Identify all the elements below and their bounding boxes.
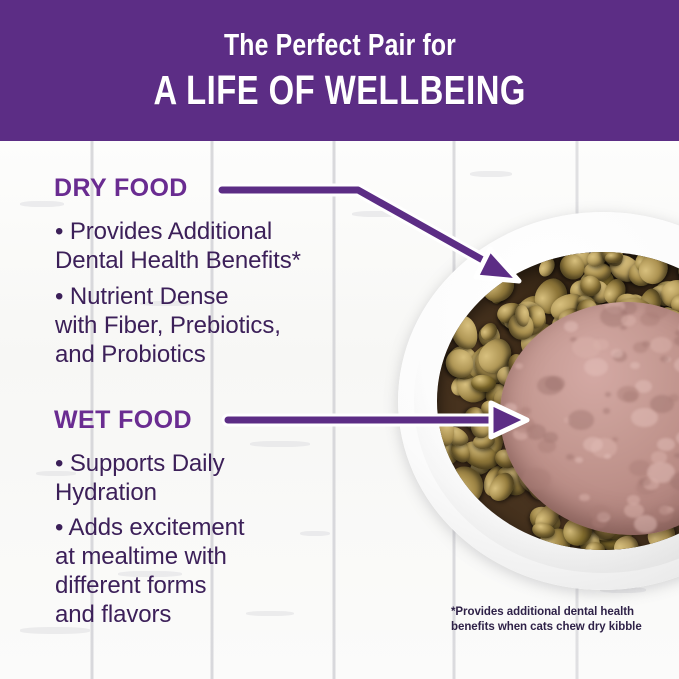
pate-texture [630, 362, 639, 369]
pate-texture [572, 337, 601, 359]
pate-texture [674, 336, 679, 346]
pate-texture [621, 315, 636, 326]
pate-texture [651, 451, 668, 463]
pate-texture [611, 349, 623, 358]
pate-texture [504, 403, 517, 413]
pate-texture [566, 454, 574, 460]
header-line-1: The Perfect Pair for [223, 27, 455, 63]
pate-texture [520, 407, 531, 415]
pate-texture [538, 439, 557, 453]
pate-texture [650, 337, 672, 353]
pate-texture [522, 468, 551, 490]
pate-texture [583, 437, 603, 452]
pate-texture [672, 492, 679, 505]
pate-texture [669, 394, 679, 402]
bullet-dry-1: • Provides Additional Dental Health Bene… [55, 217, 385, 275]
bullet-wet-2: • Adds excitement at mealtime with diffe… [55, 513, 385, 629]
header-banner: The Perfect Pair for A LIFE OF WELLBEING [0, 0, 679, 141]
pate-texture [604, 454, 611, 459]
pate-texture [545, 376, 566, 392]
pate-texture [670, 472, 679, 491]
pate-texture [603, 408, 610, 413]
pate-texture [634, 515, 658, 533]
pate-texture [590, 505, 611, 521]
pate-texture [660, 356, 669, 362]
pate-texture [513, 417, 534, 433]
pate-texture [568, 410, 594, 429]
bullet-wet-1: • Supports Daily Hydration [55, 449, 385, 507]
infographic-canvas: The Perfect Pair for A LIFE OF WELLBEING… [0, 0, 679, 679]
header-line-2: A LIFE OF WELLBEING [153, 66, 525, 114]
copy-column: DRY FOOD • Provides Additional Dental He… [0, 141, 400, 641]
footnote-text: *Provides additional dental health benef… [451, 605, 679, 634]
pate-texture [633, 342, 648, 353]
pate-texture [645, 302, 669, 319]
pate-texture [617, 386, 638, 402]
pate-texture [515, 363, 522, 369]
pate-texture [564, 321, 579, 332]
pate-texture [674, 357, 679, 373]
pate-texture [674, 453, 679, 459]
pate-texture [584, 358, 608, 376]
pate-texture [579, 494, 589, 502]
pate-texture [575, 457, 582, 463]
pate-texture [657, 438, 674, 451]
section-heading-wet-food: WET FOOD [54, 406, 192, 435]
section-heading-dry-food: DRY FOOD [54, 174, 188, 203]
bullet-dry-2: • Nutrient Dense with Fiber, Prebiotics,… [55, 282, 385, 369]
pate-texture [675, 330, 679, 335]
pate-texture [605, 392, 611, 397]
kibble-piece [446, 466, 483, 505]
